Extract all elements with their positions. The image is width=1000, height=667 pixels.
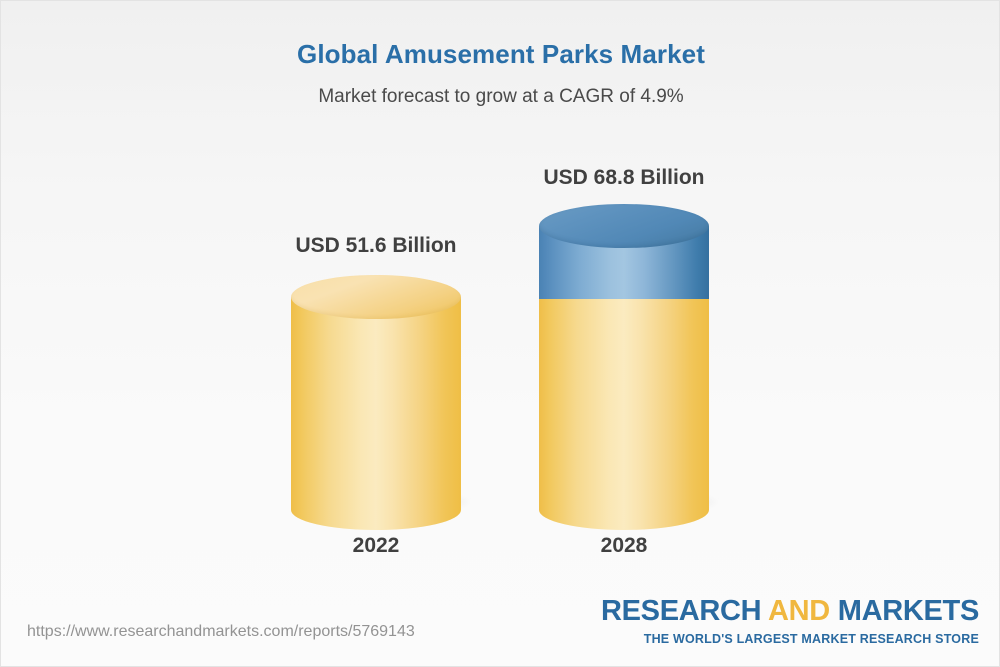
- segment-body-yellow-2028: [539, 295, 709, 510]
- bar-value-label-2022: USD 51.6 Billion: [246, 234, 506, 258]
- research-and-markets-logo[interactable]: RESEARCH AND MARKETS THE WORLD'S LARGEST…: [601, 597, 979, 646]
- logo-word-research: RESEARCH: [601, 595, 768, 627]
- logo-word-and: AND: [768, 595, 830, 627]
- bar-category-label-2022: 2022: [246, 534, 506, 558]
- chart-plot-area: USD 51.6 Billion 2022 USD 68.8 Billion: [1, 1, 1000, 667]
- bar-value-label-2028: USD 68.8 Billion: [494, 166, 754, 190]
- logo-tagline: THE WORLD'S LARGEST MARKET RESEARCH STOR…: [601, 626, 979, 646]
- segment-body-yellow-2022: [291, 297, 461, 510]
- logo-word-markets: MARKETS: [830, 595, 979, 627]
- bar-category-label-2028: 2028: [494, 534, 754, 558]
- segment-cap-blue-2028: [539, 204, 709, 248]
- segment-cap-yellow-2022: [291, 275, 461, 319]
- chart-page: Global Amusement Parks Market Market for…: [0, 0, 1000, 667]
- source-url[interactable]: https://www.researchandmarkets.com/repor…: [27, 623, 415, 641]
- logo-wordmark: RESEARCH AND MARKETS: [601, 597, 979, 626]
